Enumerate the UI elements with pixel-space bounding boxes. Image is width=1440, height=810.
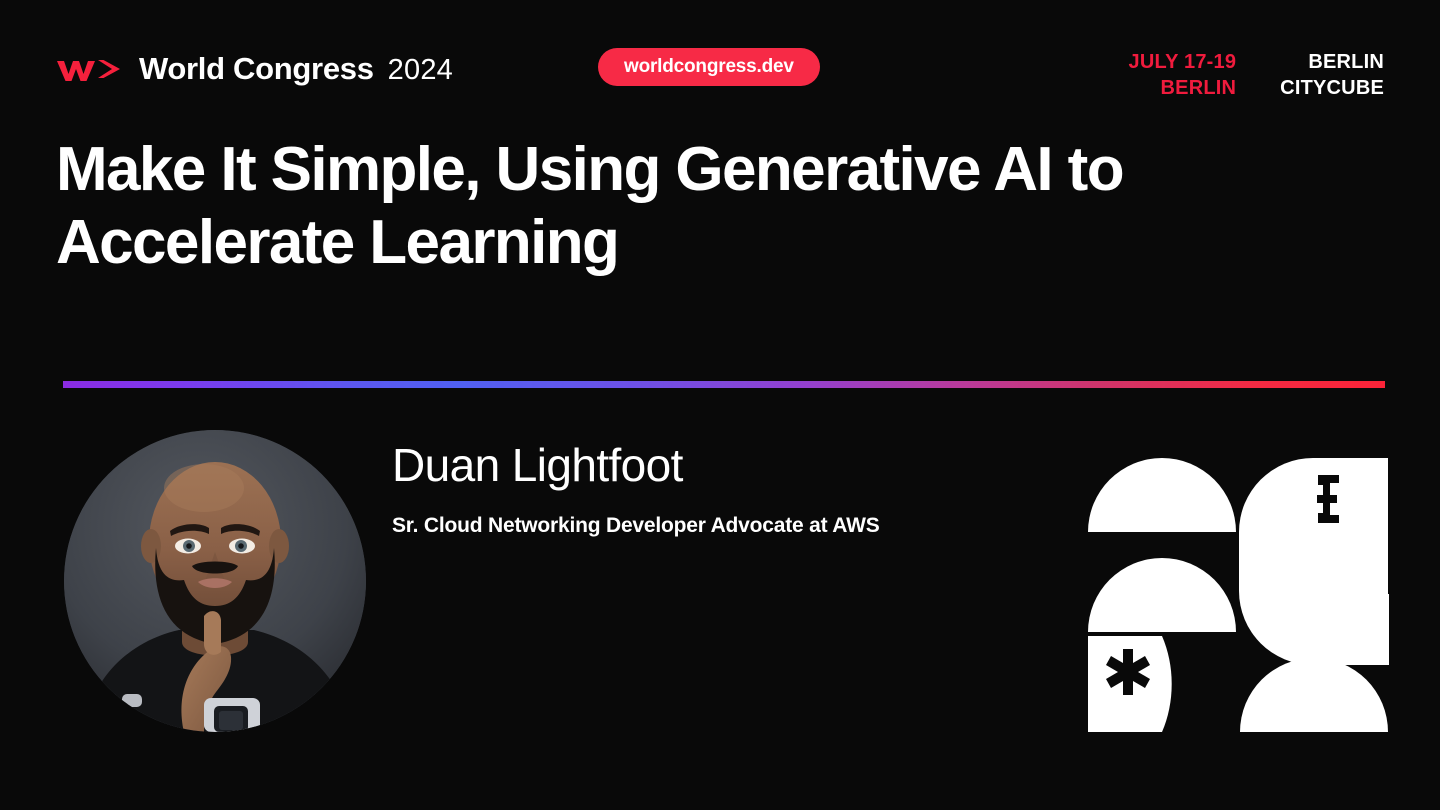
- header-meta: JULY 17-19 BERLIN BERLIN CITYCUBE: [1129, 50, 1384, 101]
- logomark-shape-dome-ml: [1088, 558, 1236, 632]
- slide-canvas: World Congress 2024 worldcongress.dev JU…: [0, 0, 1440, 810]
- event-venue-line2: CITYCUBE: [1280, 76, 1384, 102]
- brand-text: World Congress 2024: [139, 53, 453, 85]
- event-date-line1: JULY 17-19: [1129, 50, 1237, 76]
- logomark-shape-dome-br: [1240, 658, 1388, 732]
- worldcongress-w-arrow-logo-icon: [56, 54, 122, 84]
- gradient-divider: [63, 381, 1385, 388]
- session-title: Make It Simple, Using Generative AI to A…: [56, 134, 1376, 279]
- logomark-shape-blob-bl: [1088, 636, 1172, 732]
- brand-name: World Congress: [139, 53, 374, 84]
- brand-year: 2024: [388, 56, 453, 85]
- speaker-portrait-image: [64, 430, 366, 732]
- event-date-line2: BERLIN: [1129, 76, 1237, 102]
- speaker-role: Sr. Cloud Networking Developer Advocate …: [392, 513, 1052, 539]
- logomark-shape-rect-mr: [1313, 594, 1389, 665]
- event-date-block: JULY 17-19 BERLIN: [1129, 50, 1237, 101]
- event-venue-line1: BERLIN: [1280, 50, 1384, 76]
- event-venue-block: BERLIN CITYCUBE: [1280, 50, 1384, 101]
- url-badge[interactable]: worldcongress.dev: [598, 48, 820, 86]
- speaker-avatar: [64, 430, 366, 732]
- wc24-abstract-logomark-icon: [1087, 431, 1390, 733]
- speaker-name: Duan Lightfoot: [392, 440, 1052, 491]
- speaker-info: Duan Lightfoot Sr. Cloud Networking Deve…: [392, 440, 1052, 539]
- brand-lockup[interactable]: World Congress 2024: [56, 48, 453, 90]
- slide-header: World Congress 2024 worldcongress.dev JU…: [0, 0, 1440, 120]
- logomark-shape-dome-tl: [1088, 458, 1236, 532]
